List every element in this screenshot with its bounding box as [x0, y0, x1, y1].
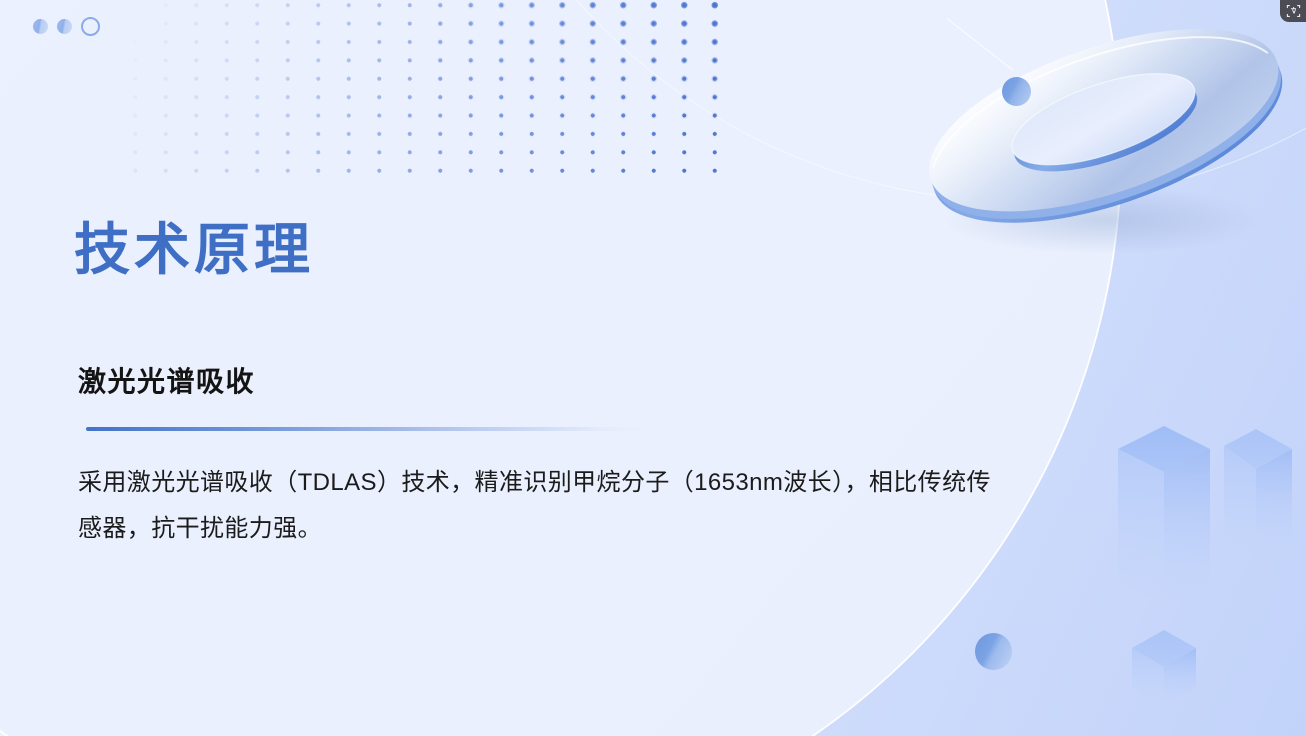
body-paragraph: 采用激光光谱吸收（TDLAS）技术，精准识别甲烷分子（1653nm波长），相比传… — [78, 460, 1008, 552]
block-tall — [1118, 426, 1210, 606]
block-medium — [1224, 429, 1292, 556]
window-dot-one[interactable] — [33, 19, 48, 34]
block-small — [1132, 630, 1196, 706]
isometric-blocks — [1066, 406, 1306, 736]
section-divider — [86, 427, 650, 431]
slide-content: 技术原理 激光光谱吸收 采用激光光谱吸收（TDLAS）技术，精准识别甲烷分子（1… — [74, 0, 1034, 736]
section-heading: 激光光谱吸收 — [78, 364, 255, 400]
translate-icon[interactable] — [1280, 0, 1306, 22]
slide-canvas: 技术原理 激光光谱吸收 采用激光光谱吸收（TDLAS）技术，精准识别甲烷分子（1… — [0, 0, 1306, 736]
page-title: 技术原理 — [74, 218, 314, 282]
window-dot-two[interactable] — [57, 19, 72, 34]
window-dot-three[interactable] — [81, 17, 100, 36]
window-dots — [33, 17, 100, 36]
